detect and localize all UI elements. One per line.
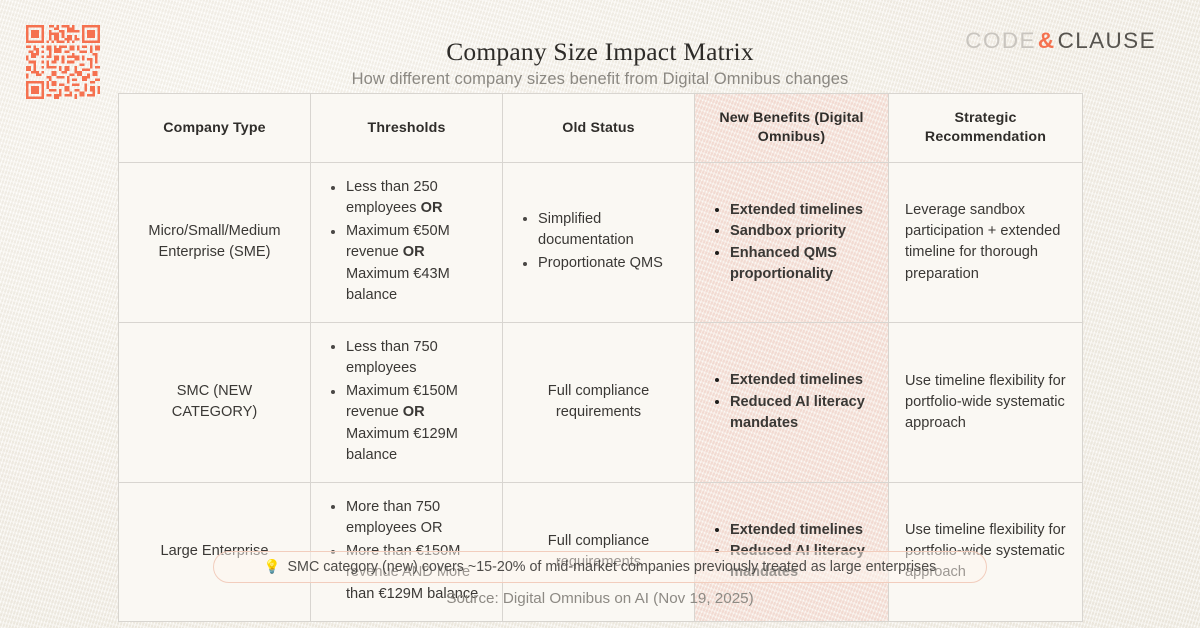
- list-item: Sandbox priority: [713, 221, 872, 242]
- cell-strategic-recommendation: Use timeline flexibility for portfolio-w…: [889, 322, 1083, 482]
- footer-note-text: SMC category (new) covers ~15-20% of mid…: [288, 559, 937, 575]
- column-header-old-status: Old Status: [503, 94, 695, 163]
- list-item: Reduced AI literacy mandates: [713, 392, 872, 433]
- lightbulb-icon: 💡: [264, 560, 281, 574]
- table-row: Micro/Small/Medium Enterprise (SME) Less…: [119, 163, 1083, 323]
- cell-company-type: Micro/Small/Medium Enterprise (SME): [119, 163, 311, 323]
- table-header-row: Company Type Thresholds Old Status New B…: [119, 94, 1083, 163]
- threshold-text-tail: Maximum €129M balance: [346, 426, 458, 463]
- list-item: Simplified documentation: [521, 209, 678, 251]
- qr-code-icon[interactable]: [26, 25, 100, 99]
- new-benefits-list: Extended timelines Reduced AI literacy m…: [711, 370, 872, 433]
- list-item: Maximum €150M revenue OR Maximum €129M b…: [329, 381, 486, 466]
- strategic-text: Leverage sandbox participation + extende…: [905, 200, 1066, 285]
- threshold-list: Less than 250 employees OR Maximum €50M …: [327, 177, 486, 306]
- threshold-text: Maximum €50M revenue: [346, 223, 450, 260]
- list-item: Extended timelines: [713, 200, 872, 221]
- threshold-list: Less than 750 employees Maximum €150M re…: [327, 337, 486, 466]
- new-benefits-list: Extended timelines Sandbox priority Enha…: [711, 200, 872, 285]
- list-item: Enhanced QMS proportionality: [713, 243, 872, 284]
- strategic-text: Use timeline flexibility for portfolio-w…: [905, 371, 1066, 434]
- column-header-strategic-recommendation: Strategic Recommendation: [889, 94, 1083, 163]
- list-item: Less than 750 employees: [329, 337, 486, 379]
- matrix-table-container: Company Type Thresholds Old Status New B…: [118, 93, 1082, 622]
- cell-old-status: Full compliance requirements: [503, 322, 695, 482]
- brand-logo: CODE&CLAUSE: [965, 28, 1156, 54]
- brand-ampersand: &: [1036, 28, 1058, 53]
- threshold-emphasis: OR: [403, 404, 425, 420]
- brand-code: CODE: [965, 28, 1036, 53]
- cell-thresholds: Less than 750 employees Maximum €150M re…: [311, 322, 503, 482]
- company-size-impact-matrix: Company Type Thresholds Old Status New B…: [118, 93, 1083, 622]
- cell-new-benefits: Extended timelines Reduced AI literacy m…: [695, 322, 889, 482]
- cell-thresholds: Less than 250 employees OR Maximum €50M …: [311, 163, 503, 323]
- threshold-emphasis: OR: [421, 200, 443, 216]
- cell-new-benefits: Extended timelines Sandbox priority Enha…: [695, 163, 889, 323]
- source-line: Source: Digital Omnibus on AI (Nov 19, 2…: [0, 590, 1200, 607]
- threshold-text-tail: Maximum €43M balance: [346, 266, 450, 303]
- column-header-thresholds: Thresholds: [311, 94, 503, 163]
- old-status-list: Simplified documentation Proportionate Q…: [519, 209, 678, 274]
- brand-clause: CLAUSE: [1058, 28, 1156, 53]
- list-item: Extended timelines: [713, 370, 872, 391]
- cell-strategic-recommendation: Leverage sandbox participation + extende…: [889, 163, 1083, 323]
- list-item: More than 750 employees OR: [329, 497, 486, 539]
- list-item: Less than 250 employees OR: [329, 177, 486, 219]
- list-item: Proportionate QMS: [521, 253, 678, 274]
- table-row: SMC (NEW CATEGORY) Less than 750 employe…: [119, 322, 1083, 482]
- threshold-emphasis: OR: [403, 244, 425, 260]
- column-header-new-benefits: New Benefits (Digital Omnibus): [695, 94, 889, 163]
- list-item: Extended timelines: [713, 520, 872, 541]
- list-item: Maximum €50M revenue OR Maximum €43M bal…: [329, 221, 486, 306]
- page-subtitle: How different company sizes benefit from…: [0, 70, 1200, 89]
- cell-old-status: Simplified documentation Proportionate Q…: [503, 163, 695, 323]
- threshold-text: Less than 750 employees: [346, 339, 438, 376]
- column-header-company-type: Company Type: [119, 94, 311, 163]
- footer-note-pill: 💡 SMC category (new) covers ~15-20% of m…: [213, 551, 987, 583]
- cell-company-type: SMC (NEW CATEGORY): [119, 322, 311, 482]
